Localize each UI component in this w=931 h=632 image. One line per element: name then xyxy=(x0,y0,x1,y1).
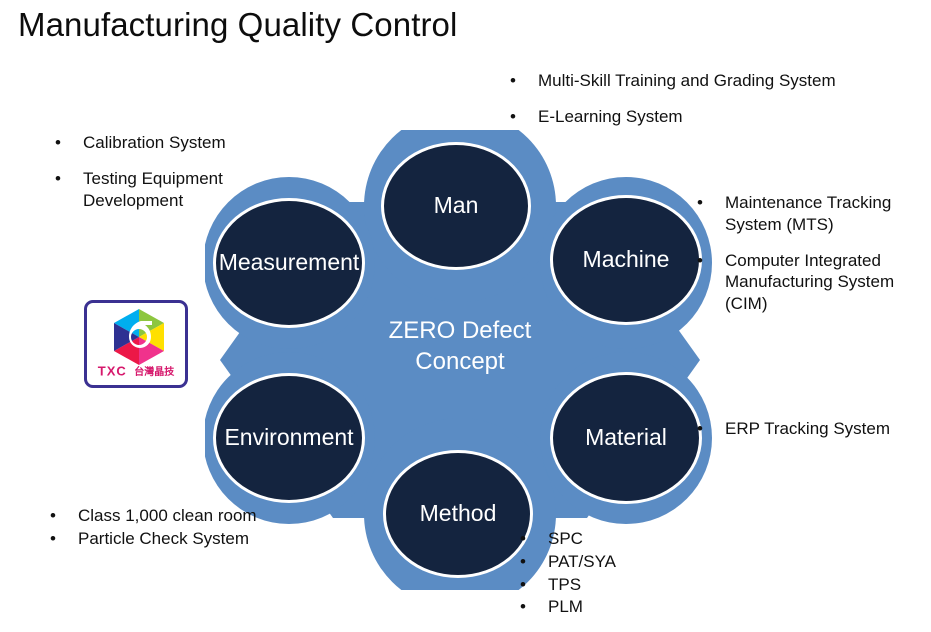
bullet-icon: • xyxy=(55,168,83,190)
bullet-icon: • xyxy=(50,505,78,527)
txc-wordmark: TXC 台灣晶技 xyxy=(87,362,185,380)
bullet-icon: • xyxy=(697,250,725,272)
list-item-label: Maintenance Tracking System (MTS) xyxy=(725,192,922,236)
list-item: • SPC xyxy=(520,528,730,550)
bullets-machine: • Maintenance Tracking System (MTS) • Co… xyxy=(697,192,922,329)
list-item-label: Computer Integrated Manufacturing System… xyxy=(725,250,922,315)
list-item: • Testing Equipment Development xyxy=(55,168,315,212)
list-item-label: Class 1,000 clean room xyxy=(78,505,340,527)
bullet-icon: • xyxy=(520,596,548,618)
txc-chinese-name: 台灣晶技 xyxy=(134,367,174,378)
bullets-environment: • Class 1,000 clean room • Particle Chec… xyxy=(50,505,340,551)
list-item-label: E-Learning System xyxy=(538,106,855,128)
list-item: • ERP Tracking System xyxy=(697,418,927,440)
list-item: • PLM xyxy=(520,596,730,618)
slide-canvas: Manufacturing Quality Control ZERO Defec… xyxy=(0,0,931,632)
list-item-label: Testing Equipment Development xyxy=(83,168,315,212)
bullets-material: • ERP Tracking System xyxy=(697,418,927,454)
list-item: • Computer Integrated Manufacturing Syst… xyxy=(697,250,922,315)
bullets-measurement: • Calibration System • Testing Equipment… xyxy=(55,132,315,225)
list-item-label: SPC xyxy=(548,528,730,550)
list-item-label: Calibration System xyxy=(83,132,315,154)
node-measurement-label: Measurement xyxy=(219,250,360,275)
list-item: • PAT/SYA xyxy=(520,551,730,573)
node-method-label: Method xyxy=(420,501,497,526)
list-item: • Multi-Skill Training and Grading Syste… xyxy=(510,70,855,92)
list-item-label: Multi-Skill Training and Grading System xyxy=(538,70,855,92)
list-item: • TPS xyxy=(520,574,730,596)
page-title: Manufacturing Quality Control xyxy=(18,6,457,44)
node-environment-label: Environment xyxy=(224,425,353,450)
list-item-label: PAT/SYA xyxy=(548,551,730,573)
bullet-icon: • xyxy=(697,192,725,214)
list-item: • Particle Check System xyxy=(50,528,340,550)
list-item: • Maintenance Tracking System (MTS) xyxy=(697,192,922,236)
list-item-label: TPS xyxy=(548,574,730,596)
bullet-icon: • xyxy=(510,106,538,128)
list-item-label: ERP Tracking System xyxy=(725,418,927,440)
bullet-icon: • xyxy=(510,70,538,92)
txc-letters: TXC xyxy=(98,363,127,378)
node-environment[interactable]: Environment xyxy=(213,373,365,503)
bullets-method: • SPC • PAT/SYA • TPS • PLM xyxy=(520,528,730,619)
node-machine-label: Machine xyxy=(583,247,670,272)
node-material[interactable]: Material xyxy=(550,372,702,504)
bullets-man: • Multi-Skill Training and Grading Syste… xyxy=(510,70,855,142)
bullet-icon: • xyxy=(520,551,548,573)
node-material-label: Material xyxy=(585,425,667,450)
node-method[interactable]: Method xyxy=(383,450,533,578)
node-machine[interactable]: Machine xyxy=(550,195,702,325)
bullet-icon: • xyxy=(697,418,725,440)
txc-logo: TXC 台灣晶技 xyxy=(84,300,188,388)
bullet-icon: • xyxy=(520,528,548,550)
list-item-label: PLM xyxy=(548,596,730,618)
bullet-icon: • xyxy=(55,132,83,154)
bullet-icon: • xyxy=(50,528,78,550)
txc-hexagon-icon xyxy=(109,307,169,367)
node-man-label: Man xyxy=(434,193,479,218)
node-man[interactable]: Man xyxy=(381,142,531,270)
list-item: • Calibration System xyxy=(55,132,315,154)
bullet-icon: • xyxy=(520,574,548,596)
list-item-label: Particle Check System xyxy=(78,528,340,550)
list-item: • E-Learning System xyxy=(510,106,855,128)
list-item: • Class 1,000 clean room xyxy=(50,505,340,527)
